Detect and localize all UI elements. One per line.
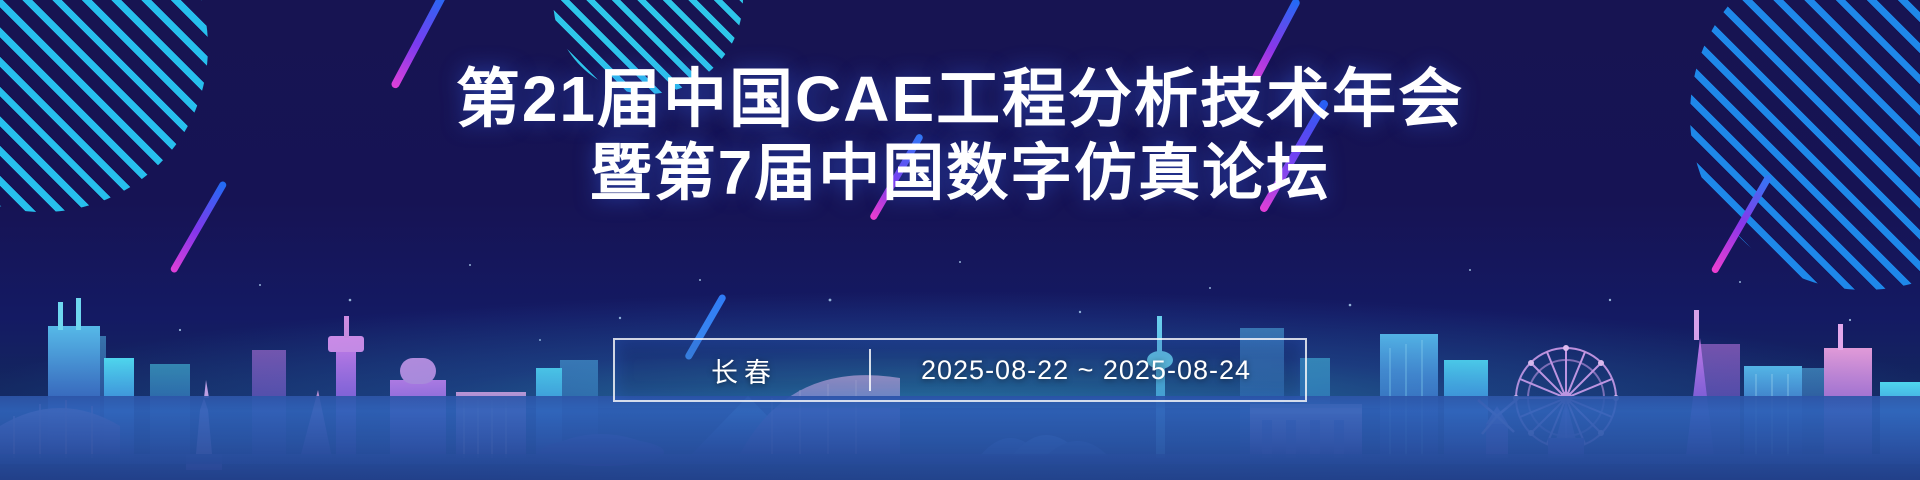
page-title-line-2: 暨第7届中国数字仿真论坛 [0, 138, 1920, 210]
banner-title-block: 第21届中国CAE工程分析技术年会 暨第7届中国数字仿真论坛 [0, 62, 1920, 210]
water-reflection [0, 396, 1920, 480]
event-info-box: 长春 2025-08-22 ~ 2025-08-24 [613, 338, 1307, 402]
event-date-range: 2025-08-22 ~ 2025-08-24 [871, 355, 1301, 386]
page-title-line-1: 第21届中国CAE工程分析技术年会 [0, 62, 1920, 136]
event-city: 长春 [619, 351, 869, 390]
conference-banner: 第21届中国CAE工程分析技术年会 暨第7届中国数字仿真论坛 长春 2025-0… [0, 0, 1920, 480]
